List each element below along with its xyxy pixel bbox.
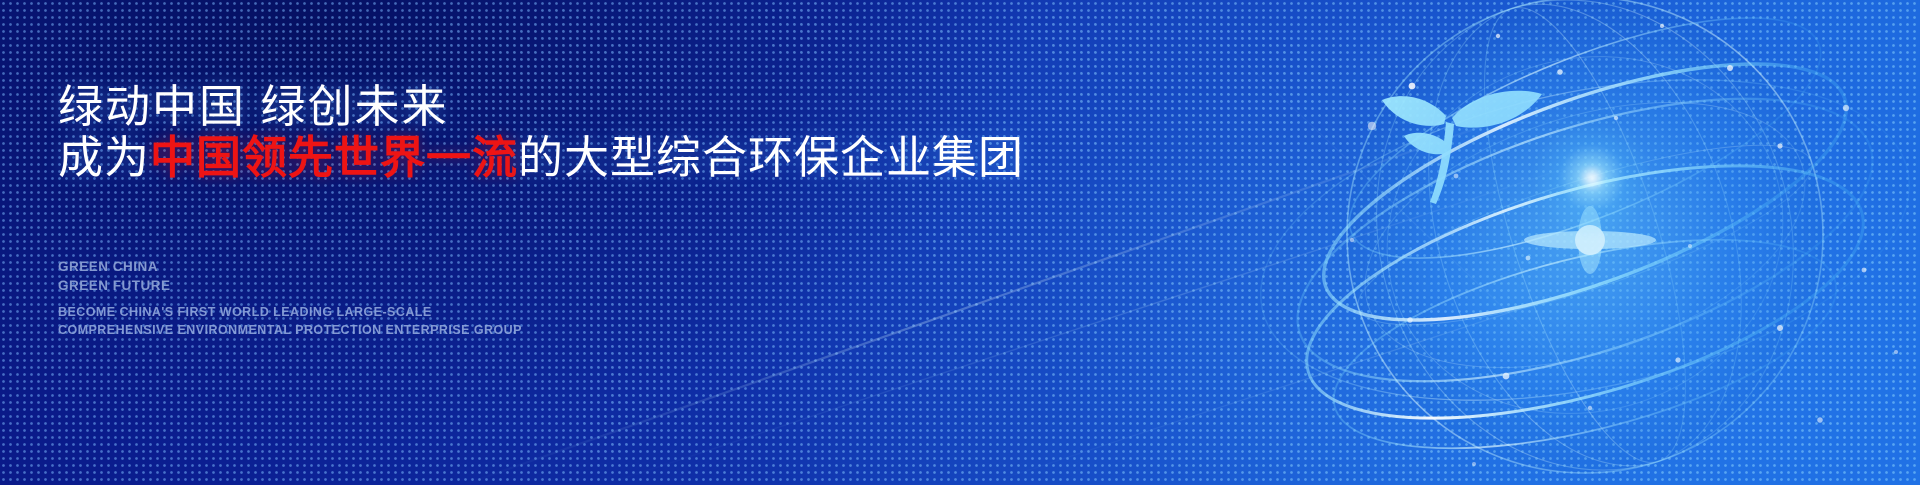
light-flare-icon — [1524, 206, 1656, 274]
tagline-line-2: GREEN FUTURE — [58, 277, 171, 296]
description-english: BECOME CHINA'S FIRST WORLD LEADING LARGE… — [58, 304, 522, 340]
globe-center-glow — [1522, 108, 1662, 248]
tagline-line-1: GREEN CHINA — [58, 258, 171, 277]
headline-primary: 绿动中国 绿创未来 — [58, 82, 449, 132]
wireframe-globe-icon — [1260, 0, 1920, 485]
headline-secondary-highlight: 中国领先世界一流 — [150, 132, 518, 183]
headline-secondary-suffix: 的大型综合环保企业集团 — [518, 132, 1024, 183]
description-line-2: COMPREHENSIVE ENVIRONMENTAL PROTECTION E… — [58, 322, 522, 340]
hero-text-block: 绿动中国 绿创未来 成为中国领先世界一流的大型综合环保企业集团 GREEN CH… — [58, 0, 1108, 485]
corporate-hero-banner: 绿动中国 绿创未来 成为中国领先世界一流的大型综合环保企业集团 GREEN CH… — [0, 0, 1920, 485]
headline-secondary-prefix: 成为 — [58, 132, 150, 183]
headline-secondary: 成为中国领先世界一流的大型综合环保企业集团 — [58, 133, 1024, 183]
sprout-leaf-icon — [1382, 91, 1542, 204]
tagline-english: GREEN CHINA GREEN FUTURE — [58, 258, 171, 295]
globe-glow — [1350, 0, 1820, 470]
description-line-1: BECOME CHINA'S FIRST WORLD LEADING LARGE… — [58, 304, 522, 322]
